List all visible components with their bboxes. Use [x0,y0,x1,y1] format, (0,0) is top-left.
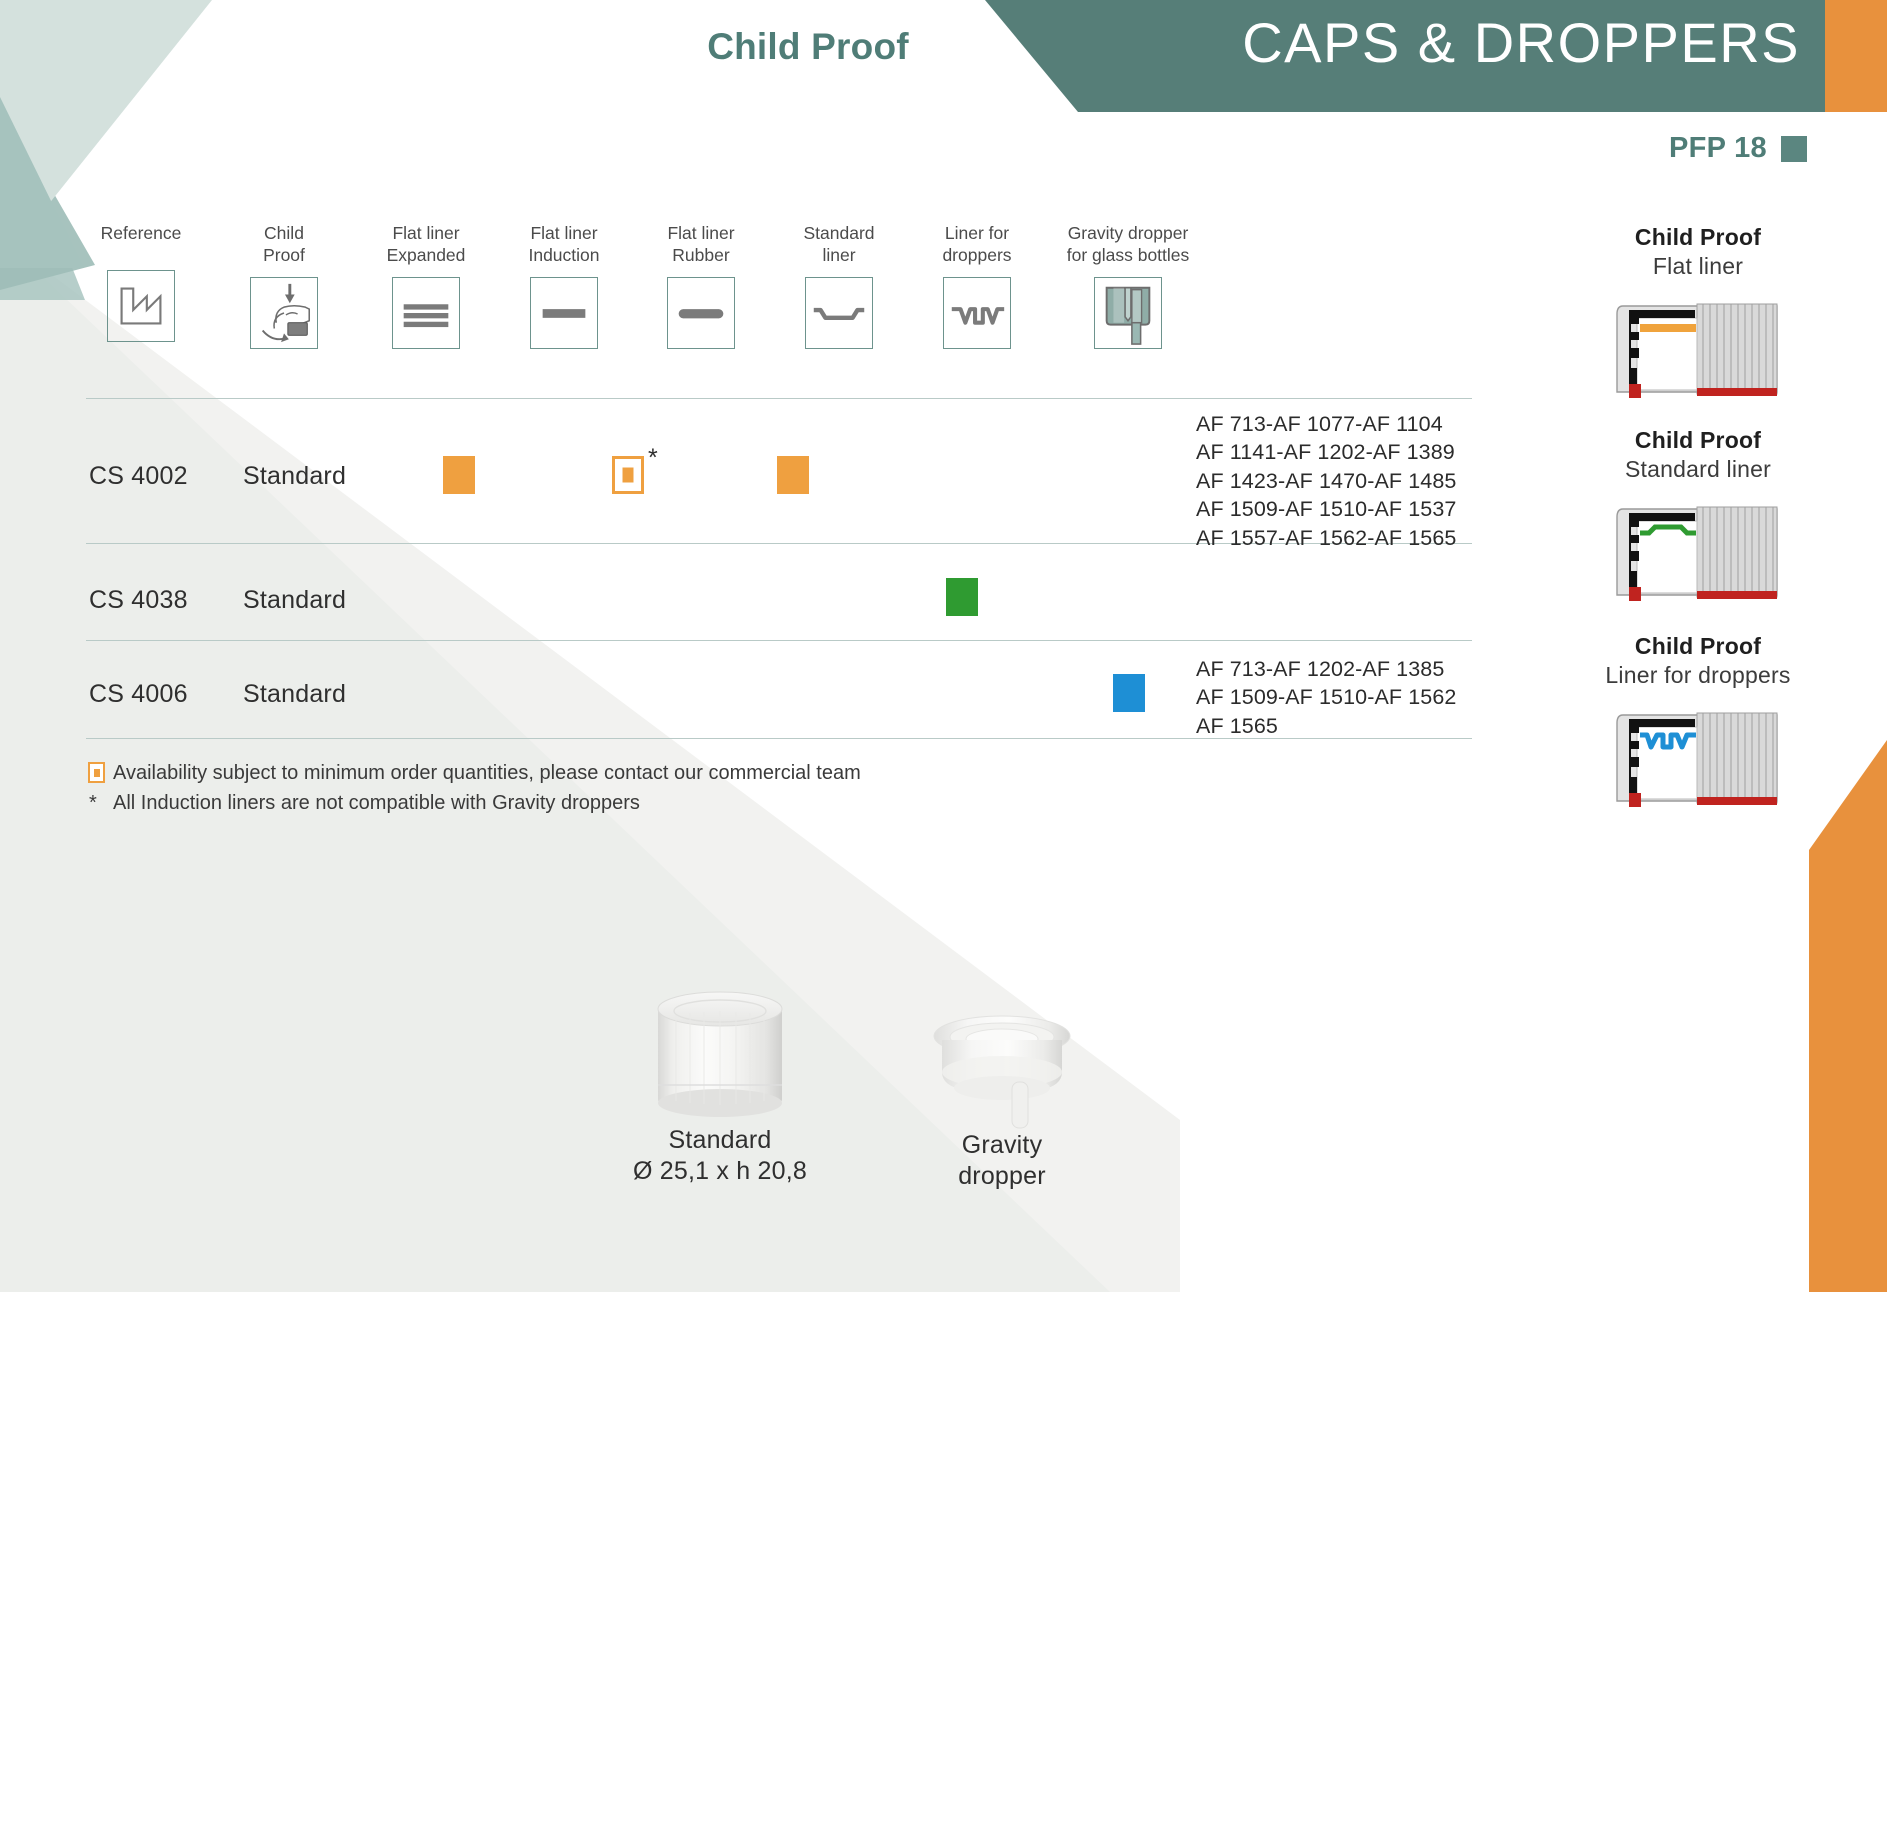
cross-section-card-flat-liner: Child Proof Flat liner [1548,224,1848,406]
liner-for-droppers-icon [943,277,1011,349]
cross-section-subtitle: Liner for droppers [1548,662,1848,689]
product-standard-name: Standard [620,1125,820,1156]
column-header-gravity-dropper: Gravity dropper for glass bottles [1028,222,1228,349]
page-title-right: CAPS & DROPPERS [1100,10,1800,75]
column-label-flat-expanded-line2: Expanded [362,244,490,266]
column-header-reference: Reference [86,222,196,342]
liner-accent [1640,324,1696,332]
row-reference: CS 4002 [89,462,188,491]
row-reference: CS 4038 [89,586,188,615]
gravity-dropper-icon [1094,277,1162,349]
product-gravity-dims: dropper [912,1161,1092,1192]
cross-section-title: Child Proof [1548,427,1848,454]
column-header-flat-liner-rubber: Flat liner Rubber [637,222,765,349]
cap-cross-section-art-liner-for-droppers [1607,697,1789,815]
footnote-induction: All Induction liners are not compatible … [113,792,640,815]
column-header-flat-liner-expanded: Flat liner Expanded [362,222,490,349]
row-af-codes: AF 713-AF 1202-AF 1385 AF 1509-AF 1510-A… [1196,655,1456,740]
footnote-availability: Availability subject to minimum order qu… [113,762,861,785]
mark-flat-liner-rubber [777,456,809,494]
page-title-left: Child Proof [648,26,968,68]
cross-section-title: Child Proof [1548,633,1848,660]
plastic-side-tab[interactable] [1797,740,1887,1292]
column-label-gravity-line1: Gravity dropper [1028,222,1228,244]
mark-flat-liner-expanded [443,456,475,494]
column-header-flat-liner-induction: Flat liner Induction [500,222,628,349]
row-child-proof: Standard [243,680,346,709]
page-code-group: PFP 18 [1669,132,1807,165]
factory-icon [107,270,175,342]
page-code-chip [1781,136,1807,162]
column-label-child-proof-line2: Proof [228,244,340,266]
column-label-flat-rubber-line1: Flat liner [637,222,765,244]
column-label-flat-induction-line2: Induction [500,244,628,266]
mark-flat-liner-induction [612,456,644,494]
product-standard-art [620,985,820,1125]
cross-section-subtitle: Standard liner [1548,456,1848,483]
standard-liner-icon [805,277,873,349]
induction-footnote-star: * [648,444,658,473]
column-label-liner-droppers-line1: Liner for [913,222,1041,244]
availability-legend-chip [88,762,105,783]
flat-liner-expanded-icon [392,277,460,349]
column-label-liner-droppers-line2: droppers [913,244,1041,266]
cap-cross-section-art-flat-liner [1607,288,1789,406]
product-standard: Standard Ø 25,1 x h 20,8 [620,985,820,1186]
product-gravity-dropper-art [912,1010,1092,1130]
product-gravity-name: Gravity [912,1130,1092,1161]
product-standard-dims: Ø 25,1 x h 20,8 [620,1156,820,1187]
column-label-reference: Reference [86,222,196,244]
column-label-child-proof-line1: Child [228,222,340,244]
column-label-gravity-line2: for glass bottles [1028,244,1228,266]
mark-standard-liner [946,578,978,616]
page-code-label: PFP 18 [1669,132,1767,165]
cross-section-card-standard-liner: Child Proof Standard liner [1548,427,1848,609]
cross-section-title: Child Proof [1548,224,1848,251]
child-proof-hand-icon [250,277,318,349]
column-header-child-proof: Child Proof [228,222,340,349]
column-header-liner-for-droppers: Liner for droppers [913,222,1041,349]
flat-liner-induction-icon [530,277,598,349]
page-root: Child Proof CAPS & DROPPERS PFP 18 Refer… [0,0,1887,1292]
column-label-standard-liner-line1: Standard [775,222,903,244]
product-gravity-dropper: Gravity dropper [912,1010,1092,1191]
column-label-flat-expanded-line1: Flat liner [362,222,490,244]
column-header-standard-liner: Standard liner [775,222,903,349]
row-af-codes: AF 713-AF 1077-AF 1104 AF 1141-AF 1202-A… [1196,410,1456,552]
cap-cross-section-art-standard-liner [1607,491,1789,609]
flat-liner-rubber-icon [667,277,735,349]
row-child-proof: Standard [243,586,346,615]
table-rule-top [86,398,1472,399]
column-label-standard-liner-line2: liner [775,244,903,266]
table-rule-2 [86,640,1472,641]
footnote-star-symbol: * [89,792,97,815]
row-reference: CS 4006 [89,680,188,709]
cross-section-subtitle: Flat liner [1548,253,1848,280]
mark-liner-for-droppers [1113,674,1145,712]
column-label-flat-induction-line1: Flat liner [500,222,628,244]
column-label-flat-rubber-line2: Rubber [637,244,765,266]
row-child-proof: Standard [243,462,346,491]
